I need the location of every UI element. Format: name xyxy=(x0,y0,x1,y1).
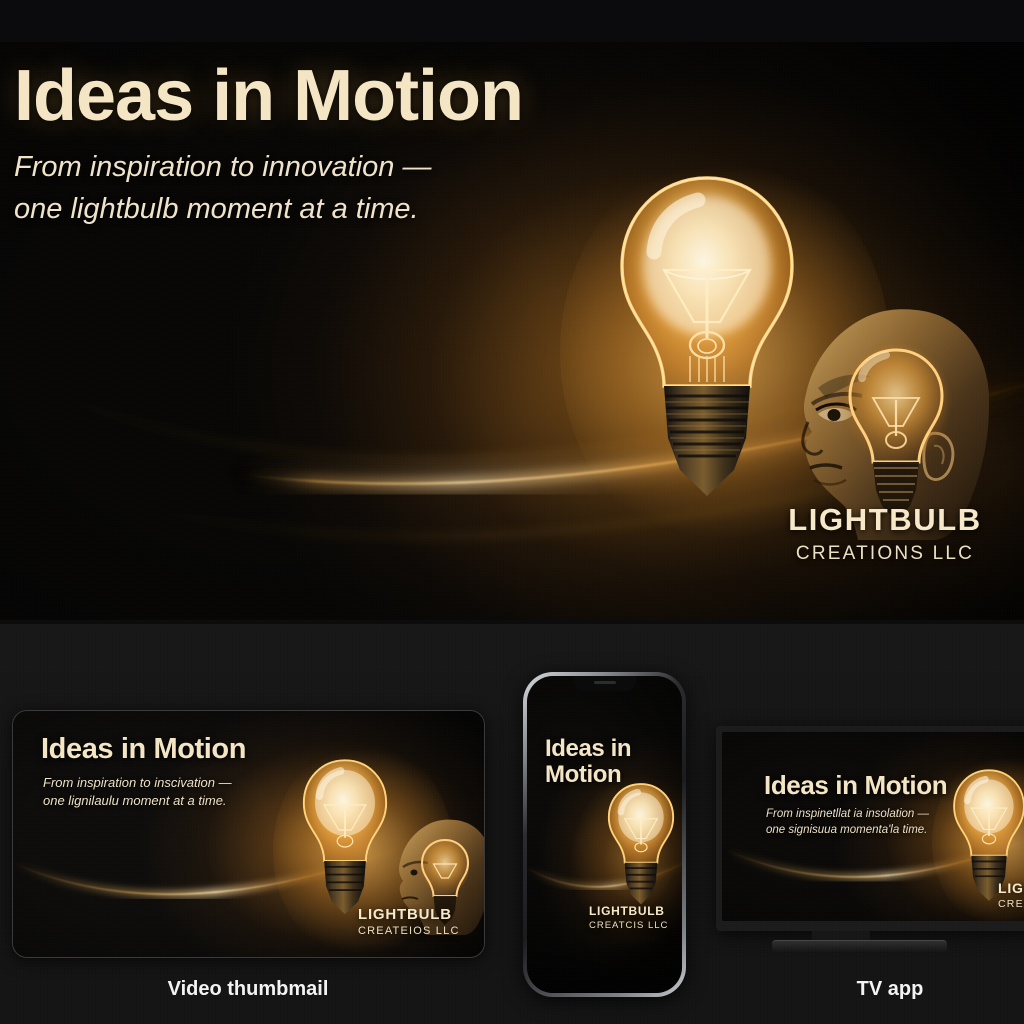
brand-subtitle: CREATIONS LLC xyxy=(760,543,1010,565)
tv-title: Ideas in Motion xyxy=(764,770,947,801)
thumb-tagline: From inspiration to inscivation — one li… xyxy=(43,774,232,809)
phone-title-line-1: Ideas in xyxy=(545,736,631,762)
phone-brand-subtitle: CREATCIS LLC xyxy=(589,920,682,931)
phone-screen[interactable]: Ideas in Motion LIGHTBULB CREATCIS LLC xyxy=(527,676,682,993)
thumb-tagline-line-2: one lignilaulu moment at a time. xyxy=(43,792,232,810)
tv-brand-name: LIGH xyxy=(998,880,1024,896)
phone-mockup[interactable]: Ideas in Motion LIGHTBULB CREATCIS LLC xyxy=(523,672,686,997)
thumb-title: Ideas in Motion xyxy=(41,733,246,766)
phone-lightbulb-icon xyxy=(605,781,677,921)
tv-brand-subtitle: CREAT xyxy=(998,898,1024,910)
phone-title: Ideas in Motion xyxy=(545,736,631,788)
tv-app-caption: TV app xyxy=(780,978,1000,1001)
hero-tagline-line-2: one lightbulb moment at a time. xyxy=(14,189,523,230)
thumb-brand-logo: LIGHTBULB CREATEIOS LLC xyxy=(358,906,485,937)
hero-banner: Ideas in Motion From inspiration to inno… xyxy=(0,42,1024,622)
hero-tagline-line-1: From inspiration to innovation — xyxy=(14,147,523,188)
presentation-canvas: Ideas in Motion From inspiration to inno… xyxy=(0,0,1024,1024)
phone-vignette xyxy=(527,676,682,993)
tv-app-mockup[interactable]: Ideas in Motion From inspinetllat ia ins… xyxy=(716,726,1024,931)
thumb-light-streak-icon xyxy=(12,841,413,951)
tv-tagline-line-2: one signisuua momenta'la time. xyxy=(766,823,929,839)
page-title: Ideas in Motion xyxy=(14,60,523,133)
brand-logo-lockup: LIGHTBULB CREATIONS LLC xyxy=(760,502,1010,565)
light-streak-swoosh-icon xyxy=(0,372,1024,602)
thumb-brand-name: LIGHTBULB xyxy=(358,906,485,923)
tv-tagline-line-1: From inspinetllat ia insolation — xyxy=(766,807,929,823)
hero-text-block: Ideas in Motion From inspiration to inno… xyxy=(14,60,523,230)
hero-tagline: From inspiration to innovation — one lig… xyxy=(14,147,523,229)
tv-tagline: From inspinetllat ia insolation — one si… xyxy=(766,807,929,838)
thumb-brand-subtitle: CREATEIOS LLC xyxy=(358,925,485,937)
thumb-tagline-line-1: From inspiration to inscivation — xyxy=(43,774,232,792)
video-thumbnail-mockup[interactable]: Ideas in Motion From inspiration to insc… xyxy=(12,710,485,958)
phone-speaker-icon xyxy=(594,681,616,684)
brand-name: LIGHTBULB xyxy=(760,502,1010,538)
phone-glow xyxy=(527,676,682,993)
phone-brand-name: LIGHTBULB xyxy=(589,904,682,918)
hero-bulb-halo xyxy=(560,152,890,552)
tv-brand-logo: LIGH CREAT xyxy=(998,880,1024,910)
video-thumbnail-caption: Video thumbmail xyxy=(98,978,398,1001)
letterbox-top xyxy=(0,0,1024,42)
phone-brand-logo: LIGHTBULB CREATCIS LLC xyxy=(589,904,682,931)
phone-notch xyxy=(574,676,636,691)
tv-light-streak-icon xyxy=(722,832,1024,921)
tv-screen[interactable]: Ideas in Motion From inspinetllat ia ins… xyxy=(722,732,1024,921)
lightbulb-icon xyxy=(612,170,802,540)
phone-title-line-2: Motion xyxy=(545,762,631,788)
